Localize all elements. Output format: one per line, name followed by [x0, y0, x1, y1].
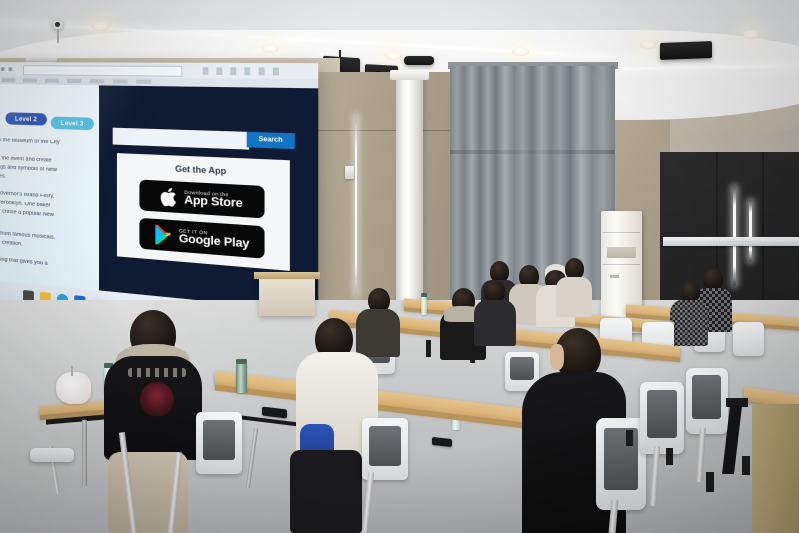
doc-line: thing that gives you a	[0, 257, 99, 271]
ac-seam-top	[603, 232, 640, 233]
ac-vent	[607, 247, 636, 258]
ceiling-downlight	[92, 22, 109, 31]
level-3-button[interactable]: Level 3	[51, 117, 94, 131]
bottle-cap	[421, 293, 427, 297]
doc-line: nes.	[0, 174, 99, 185]
google-play-badge-text-group: GET IT ON Google Play	[179, 228, 250, 251]
chair-front-2-mesh	[369, 426, 401, 466]
ceiling-downlight	[512, 47, 529, 56]
toolbar-dot	[8, 67, 12, 71]
apple-icon	[160, 185, 179, 208]
document-pane: Level 2 Level 3 all the Museum of the Ci…	[0, 84, 99, 290]
ceiling-camera-lens	[55, 22, 60, 27]
doc-line: all the Museum of the City	[0, 138, 99, 147]
person-front-2-legs	[290, 450, 362, 533]
chair-left-small[interactable]	[30, 448, 74, 462]
chair-row2-2-mesh	[510, 357, 534, 380]
water-bottle	[421, 296, 427, 315]
person-r3-4-body	[556, 277, 592, 317]
curtain-fold-line	[450, 150, 615, 154]
column-center-capital	[390, 70, 429, 80]
wall-seam	[300, 130, 460, 131]
address-bar[interactable]	[23, 65, 182, 77]
wall-control-panel[interactable]	[345, 166, 354, 179]
person-r2-3-body	[474, 300, 516, 346]
chair-glide	[626, 430, 633, 446]
thermos-cup	[236, 363, 247, 393]
podium-surface	[254, 272, 320, 279]
plastic-bag	[56, 372, 91, 404]
chair-back-2[interactable]	[733, 322, 764, 356]
table-right-bracket	[726, 398, 748, 407]
app-card-title: Get the App	[117, 162, 290, 180]
search-button[interactable]: Search	[247, 132, 295, 149]
column-left-capital	[26, 56, 57, 62]
chair-glide	[706, 472, 714, 492]
app-store-badge-text-group: Download on the App Store	[184, 189, 242, 210]
person-back-2-body	[670, 300, 708, 346]
person-front-1-jacket-text	[128, 368, 186, 377]
person-front-3-face	[550, 344, 564, 370]
ceiling-downlight	[742, 30, 759, 39]
ceiling-downlight	[262, 44, 279, 53]
wall-led-strip-right-2	[749, 200, 752, 262]
google-play-icon	[153, 224, 173, 246]
get-the-app-card: Get the App Download on the App Store	[117, 153, 290, 271]
column-center	[396, 78, 423, 328]
search-row: Search	[113, 128, 295, 151]
chair-right-1-mesh	[647, 390, 677, 438]
wall-led-strip-right-1	[733, 186, 736, 286]
bag-handle	[71, 366, 73, 376]
person-r2-1-body	[356, 309, 400, 357]
ac-seam-mid	[603, 264, 640, 265]
chair-right-2-mesh	[692, 375, 721, 419]
wall-tan-panel	[300, 72, 460, 322]
person-front-1-jacket-graphic	[140, 382, 174, 416]
table-leg-dark	[426, 340, 431, 357]
ceiling-projector-mount	[404, 56, 434, 65]
thermos-lid	[236, 359, 247, 364]
chair-glide	[742, 456, 750, 475]
chair-glide	[666, 448, 673, 465]
chair-front-1-mesh	[203, 420, 235, 460]
lecturer-podium	[259, 276, 315, 316]
wall-banner-text: · · · · · · · · · · · · ·	[665, 238, 797, 246]
doc-line: ings and symbols of New	[0, 165, 99, 175]
toolbar-dot	[1, 67, 5, 71]
search-input[interactable]	[113, 128, 249, 150]
ceiling-downlight	[640, 40, 657, 49]
ceiling-camera-stem	[57, 29, 59, 43]
toolbar-icon-group[interactable]	[203, 67, 285, 75]
app-store-badge[interactable]: Download on the App Store	[139, 180, 264, 219]
ac-indicator-light	[610, 275, 619, 278]
classroom-photo: · · · · · · · · · · · · · Level 2 Level …	[0, 0, 799, 533]
level-2-button[interactable]: Level 2	[6, 112, 47, 125]
table-right-front-side	[752, 404, 799, 533]
side-table-leg	[82, 420, 87, 486]
doc-line: in the event and create	[0, 156, 99, 166]
ceiling-downlight	[385, 51, 402, 60]
google-play-badge[interactable]: GET IT ON Google Play	[139, 218, 264, 259]
wall-speaker-far-right	[660, 41, 712, 60]
